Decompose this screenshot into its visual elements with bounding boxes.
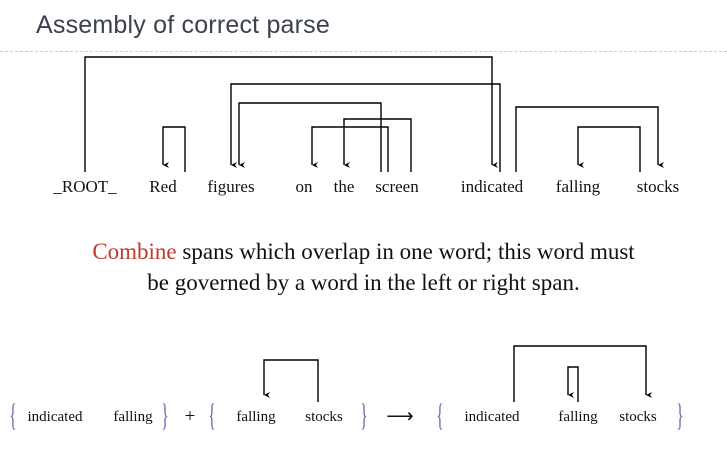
caption-highlight: Combine (92, 239, 176, 264)
arc-stocks-to-falling (578, 127, 640, 172)
arc-indicated-to-stocks (516, 107, 658, 172)
right-span-word-falling: falling (236, 406, 275, 428)
combined-span-open-brace: { (436, 406, 443, 428)
equation-row: {}indicatedfalling{}fallingstocks{}indic… (0, 406, 727, 428)
left-span-open-brace: { (9, 406, 16, 428)
combined-span-arc-indicated-to-stocks (514, 346, 646, 402)
left-span-word-indicated: indicated (28, 406, 83, 428)
combined-span-word-falling: falling (558, 406, 597, 428)
combined-span-word-stocks: stocks (619, 406, 657, 428)
equation-arcs (264, 346, 646, 402)
arc-root-to-indicated (85, 57, 492, 172)
caption-line-1: Combine spans which overlap in one word;… (0, 236, 727, 267)
right-span-word-stocks: stocks (305, 406, 343, 428)
word-root: _ROOT_ (53, 176, 116, 198)
caption-line-1-rest: spans which overlap in one word; this wo… (177, 239, 635, 264)
slide-canvas: Assembly of correct parse _ROOT_Redfigur… (0, 0, 727, 453)
word-red: Red (149, 176, 176, 198)
word-stocks: stocks (637, 176, 680, 198)
right-span-close-brace: } (360, 406, 367, 428)
arc-screen-to-figures (239, 103, 381, 172)
word-screen: screen (375, 176, 418, 198)
combined-span-arc-indicated-to-falling (568, 367, 578, 402)
word-falling: falling (556, 176, 600, 198)
word-on: on (296, 176, 313, 198)
plus-operator: + (185, 406, 196, 428)
left-span-close-brace: } (161, 406, 168, 428)
caption-text: Combine spans which overlap in one word;… (0, 236, 727, 298)
right-span-arc-stocks-to-falling (264, 360, 318, 402)
combined-span-word-indicated: indicated (465, 406, 520, 428)
word-the: the (334, 176, 355, 198)
implies-operator: ⟶ (386, 406, 413, 428)
combined-span-close-brace: } (676, 406, 683, 428)
arc-screen-to-on (312, 127, 388, 172)
dependency-arc-layer (0, 0, 727, 453)
word-figures: figures (207, 176, 254, 198)
right-span-open-brace: { (208, 406, 215, 428)
caption-line-2: be governed by a word in the left or rig… (0, 267, 727, 298)
left-span-word-falling: falling (113, 406, 152, 428)
word-indicated: indicated (461, 176, 523, 198)
arc-indicated-to-figures (231, 84, 500, 172)
parse-tree-arcs (85, 57, 658, 172)
arc-figures-to-red (163, 127, 185, 172)
sentence-word-row: _ROOT_Redfiguresonthescreenindicatedfall… (0, 176, 727, 198)
